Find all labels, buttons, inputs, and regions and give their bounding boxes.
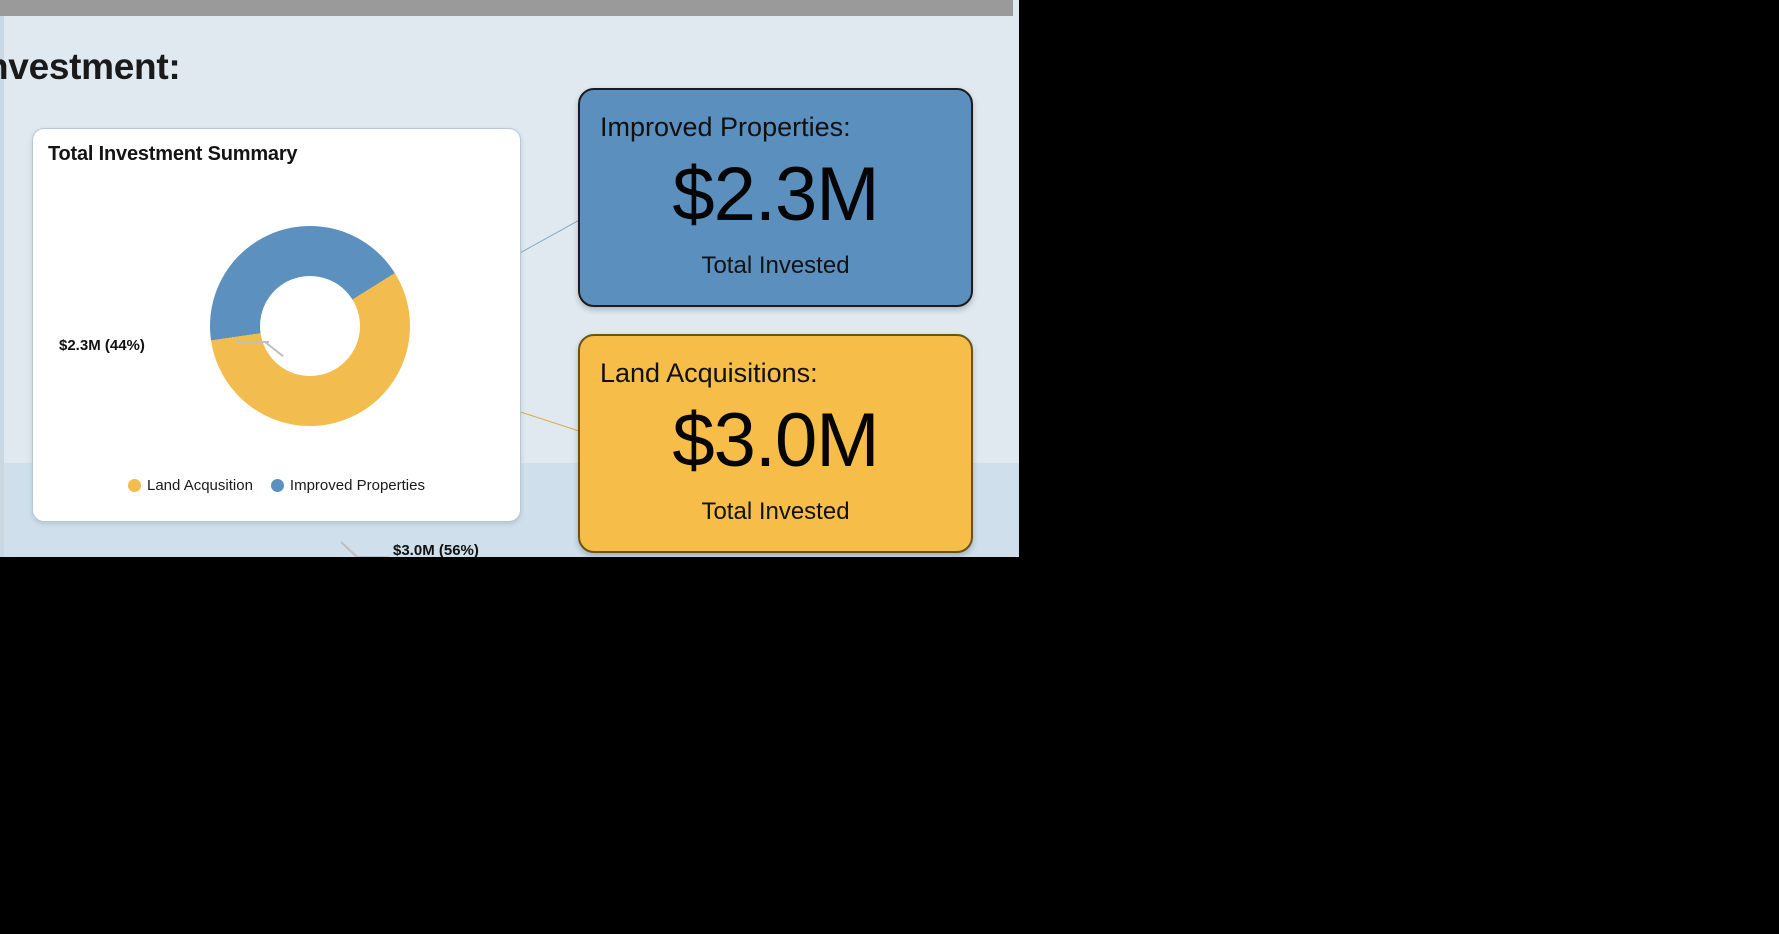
legend-color-dot-icon <box>128 479 141 492</box>
slide-title: nvestment: <box>0 46 180 88</box>
data-label-land-acquisition: $3.0M (56%) <box>393 542 479 557</box>
data-label-improved-properties: $2.3M (44%) <box>59 337 145 354</box>
kpi-subtitle: Total Invested <box>580 252 971 280</box>
legend-color-dot-icon <box>271 479 284 492</box>
kpi-value: $2.3M <box>580 152 971 238</box>
kpi-title: Land Acquisitions: <box>600 358 818 389</box>
window-top-bar <box>0 0 1013 16</box>
legend-item-label: Land Acqusition <box>147 477 253 494</box>
chart-card-title: Total Investment Summary <box>48 143 297 166</box>
screenshot-root: nvestment: Total Investment Summary $2.3… <box>0 0 1779 934</box>
leader-line-land-horizontal <box>355 556 389 557</box>
chart-legend: Land Acqusition Improved Properties <box>33 477 520 494</box>
legend-item-land-acqusition: Land Acqusition <box>128 477 253 494</box>
kpi-card-improved-properties: Improved Properties: $2.3M Total Investe… <box>578 88 973 307</box>
total-investment-summary-card: Total Investment Summary $2.3M (44%) $3.… <box>32 128 521 522</box>
donut-chart <box>210 226 410 426</box>
slide-window: nvestment: Total Investment Summary $2.3… <box>0 0 1019 557</box>
kpi-card-land-acquisitions: Land Acquisitions: $3.0M Total Invested <box>578 334 973 553</box>
slide-left-edge <box>0 16 4 557</box>
legend-item-improved-properties: Improved Properties <box>271 477 425 494</box>
kpi-value: $3.0M <box>580 398 971 484</box>
legend-item-label: Improved Properties <box>290 477 425 494</box>
kpi-title: Improved Properties: <box>600 112 851 143</box>
donut-center-hole <box>260 276 360 376</box>
kpi-subtitle: Total Invested <box>580 498 971 526</box>
